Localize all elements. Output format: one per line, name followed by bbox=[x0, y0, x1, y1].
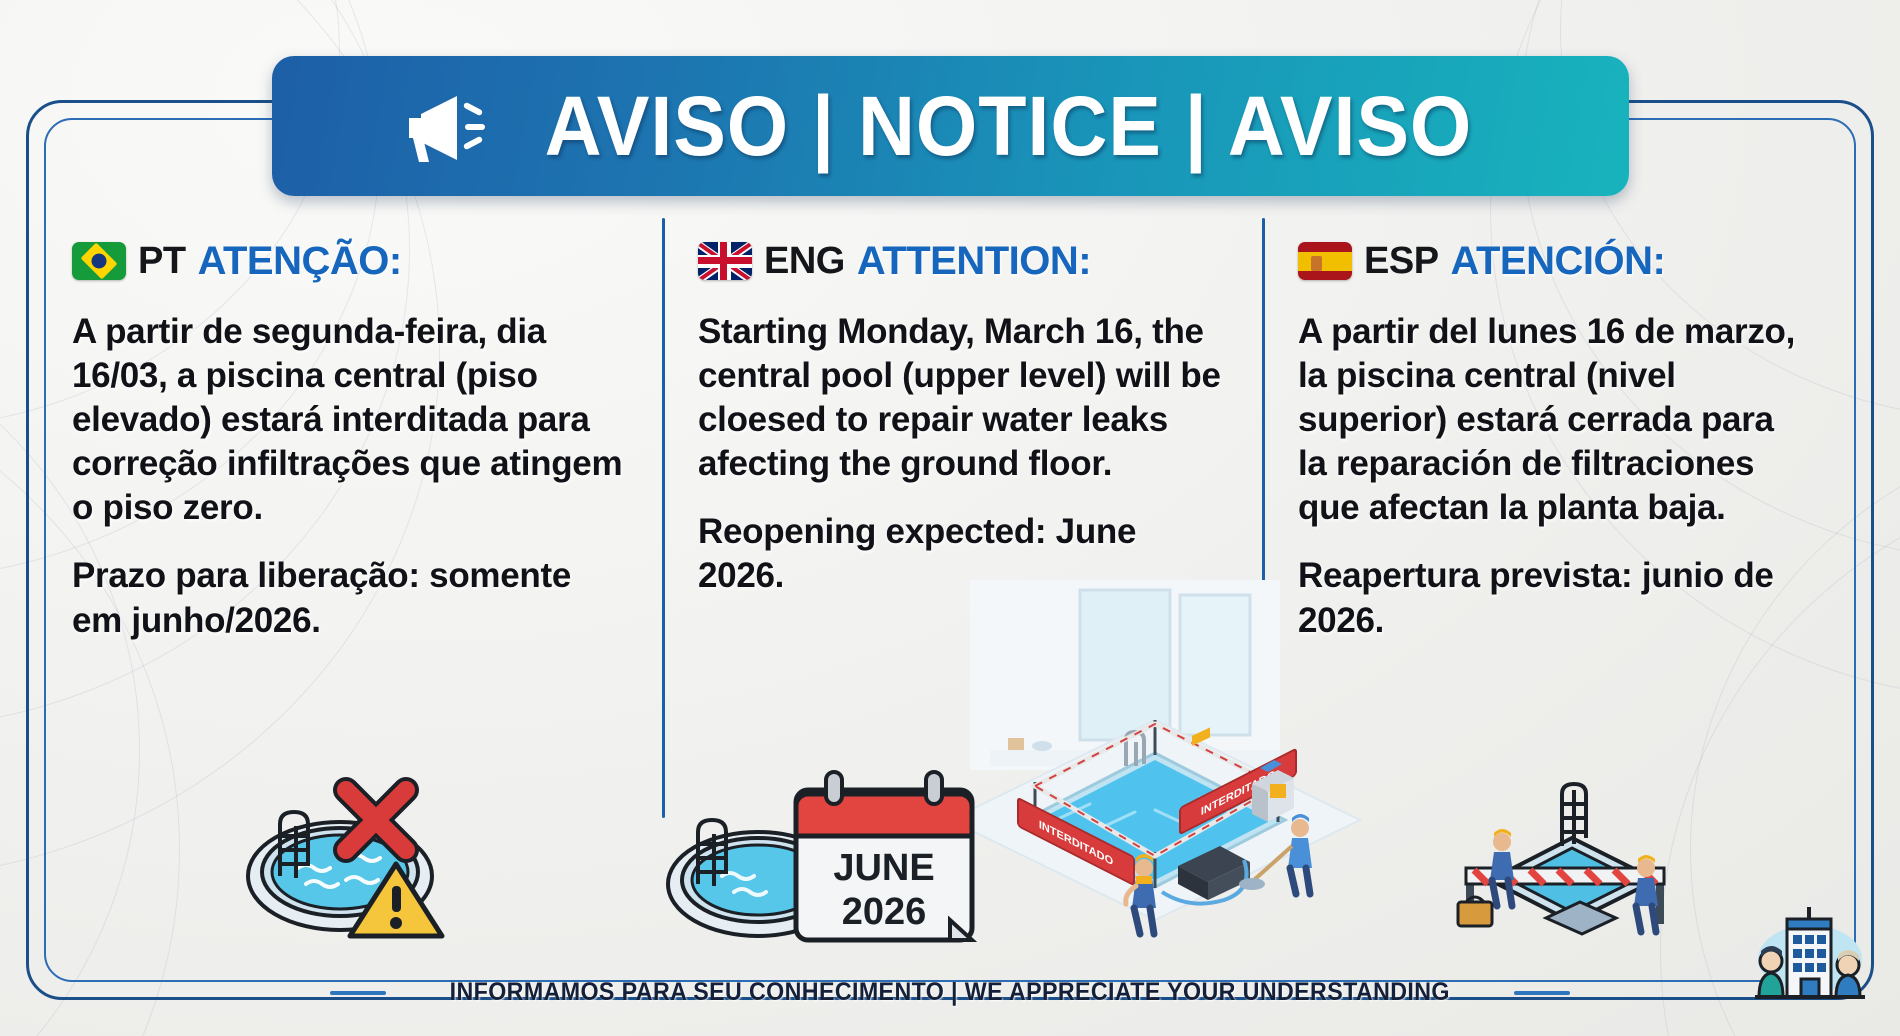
lang-code-pt: PT bbox=[138, 240, 186, 283]
calendar-month-text: JUNE bbox=[833, 847, 934, 889]
lang-word-esp: ATENCIÓN: bbox=[1451, 239, 1666, 284]
paragraph-esp-1: A partir del lunes 16 de marzo, la pisci… bbox=[1298, 310, 1798, 530]
worker-figure bbox=[1634, 855, 1658, 932]
lang-code-esp: ESP bbox=[1364, 240, 1439, 283]
notice-banner: AVISO | NOTICE | AVISO bbox=[272, 56, 1629, 196]
footer-dash-right bbox=[1514, 991, 1570, 995]
uk-flag-icon bbox=[698, 242, 752, 280]
poster-canvas: AVISO | NOTICE | AVISO PT ATENÇÃO: A par… bbox=[0, 0, 1900, 1036]
paragraph-eng-1: Starting Monday, March 16, the central p… bbox=[698, 310, 1228, 486]
footer-text: INFORMAMOS PARA SEU CONHECIMENTO | WE AP… bbox=[450, 978, 1450, 1007]
lang-code-eng: ENG bbox=[764, 240, 845, 283]
spain-flag-icon bbox=[1298, 242, 1352, 280]
calendar-year-text: 2026 bbox=[842, 891, 927, 933]
paragraph-pt-2: Prazo para liberação: somente em junho/2… bbox=[72, 554, 628, 642]
column-header-pt: PT ATENÇÃO: bbox=[72, 232, 628, 290]
pool-calendar-illustration: JUNE 2026 bbox=[660, 760, 1000, 960]
brazil-flag-icon bbox=[72, 242, 126, 280]
pool-closed-warning-illustration bbox=[228, 772, 468, 952]
footer-bar: INFORMAMOS PARA SEU CONHECIMENTO | WE AP… bbox=[0, 978, 1900, 1007]
megaphone-icon bbox=[399, 88, 495, 164]
column-header-eng: ENG ATTENTION: bbox=[698, 232, 1228, 290]
column-divider bbox=[662, 218, 665, 818]
footer-dash-left bbox=[330, 991, 386, 995]
toolbox-icon bbox=[1458, 897, 1492, 926]
paragraph-pt-1: A partir de segunda-feira, dia 16/03, a … bbox=[72, 310, 628, 530]
banner-title: AVISO | NOTICE | AVISO bbox=[545, 84, 1473, 168]
column-header-esp: ESP ATENCIÓN: bbox=[1298, 232, 1798, 290]
pool-repair-barrier-illustration bbox=[1450, 760, 1700, 960]
calendar-icon: JUNE 2026 bbox=[796, 772, 972, 940]
worker-figure bbox=[1490, 829, 1514, 906]
lang-word-eng: ATTENTION: bbox=[857, 239, 1091, 284]
lang-word-pt: ATENÇÃO: bbox=[198, 239, 402, 284]
